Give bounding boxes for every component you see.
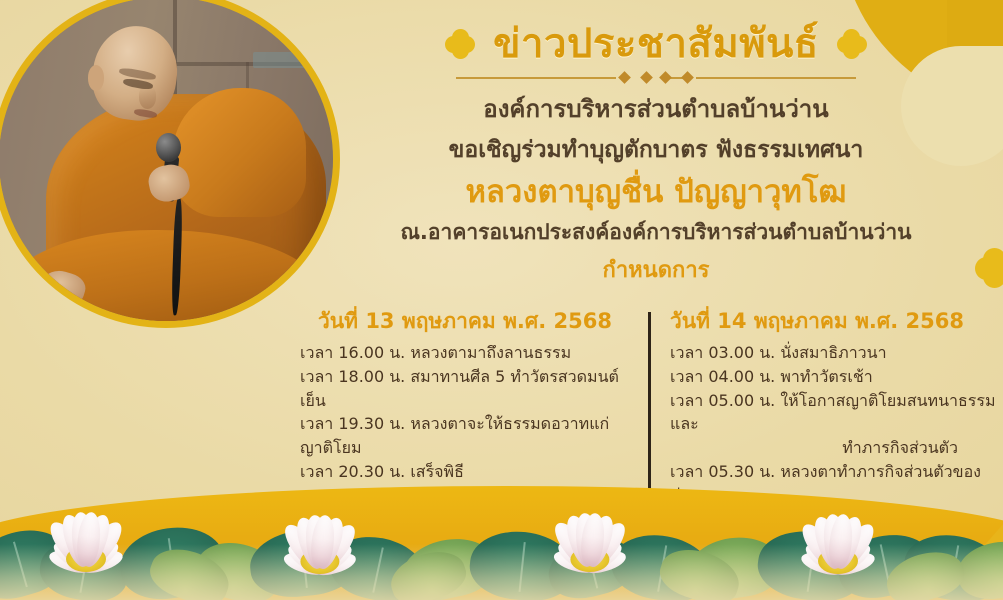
schedule-line: เวลา 19.30 น. หลวงตาจะให้ธรรมดอวาทแก่ญาต… (300, 412, 630, 459)
title-row: ข่าวประชาสัมพันธ์ (336, 22, 976, 66)
monk-nose (139, 86, 156, 109)
monk-name: หลวงตาบุญชื่น ปัญญาวุทโฒ (336, 173, 976, 212)
quatrefoil-icon (837, 29, 867, 59)
schedule-line: เวลา 16.00 น. หลวงตามาถึงลานธรรม (300, 341, 630, 365)
edge-quatrefoil-icon (975, 248, 1003, 288)
announcement-poster: ข่าวประชาสัมพันธ์ องค์การบริหารส่วนตำบลบ… (0, 0, 1003, 600)
monk-photo-frame (0, 0, 340, 328)
monk-robe-shoulder (173, 88, 307, 218)
invitation-line: ขอเชิญร่วมทำบุญตักบาตร ฟังธรรมเทศนา (336, 135, 976, 166)
title-divider-ornament (456, 71, 856, 85)
quatrefoil-icon (445, 29, 475, 59)
schedule-heading: กำหนดการ (336, 252, 976, 287)
schedule-line: เวลา 03.00 น. นั่งสมาธิภาวนา (670, 341, 1000, 365)
monk-photo (0, 0, 333, 321)
organization-name: องค์การบริหารส่วนตำบลบ้านว่าน (336, 93, 976, 125)
schedule-date-title: วันที่ 14 พฤษภาคม พ.ศ. 2568 (670, 308, 1000, 335)
band-bottom-fade (0, 544, 1003, 600)
wall-panel (253, 52, 326, 68)
schedule-line: เวลา 04.00 น. พาทำวัตรเช้า (670, 365, 1000, 389)
schedule-line: เวลา 05.00 น. ให้โอกาสญาติโยมสนทนาธรรมแล… (670, 389, 1000, 436)
microphone-head (156, 133, 181, 162)
schedule-line: เวลา 20.30 น. เสร็จพิธี (300, 460, 630, 484)
schedule-line-continuation: ทำภารกิจส่วนตัว (670, 436, 1000, 460)
schedule-date-title: วันที่ 13 พฤษภาคม พ.ศ. 2568 (300, 308, 630, 335)
venue-line: ณ.อาคารอเนกประสงค์องค์การบริหารส่วนตำบลบ… (336, 219, 976, 246)
monk-ear (88, 65, 105, 91)
poster-header: ข่าวประชาสัมพันธ์ องค์การบริหารส่วนตำบลบ… (336, 22, 976, 287)
page-title: ข่าวประชาสัมพันธ์ (493, 22, 819, 66)
schedule-line: เวลา 18.00 น. สมาทานศีล 5 ทำวัตรสวดมนต์เ… (300, 365, 630, 412)
